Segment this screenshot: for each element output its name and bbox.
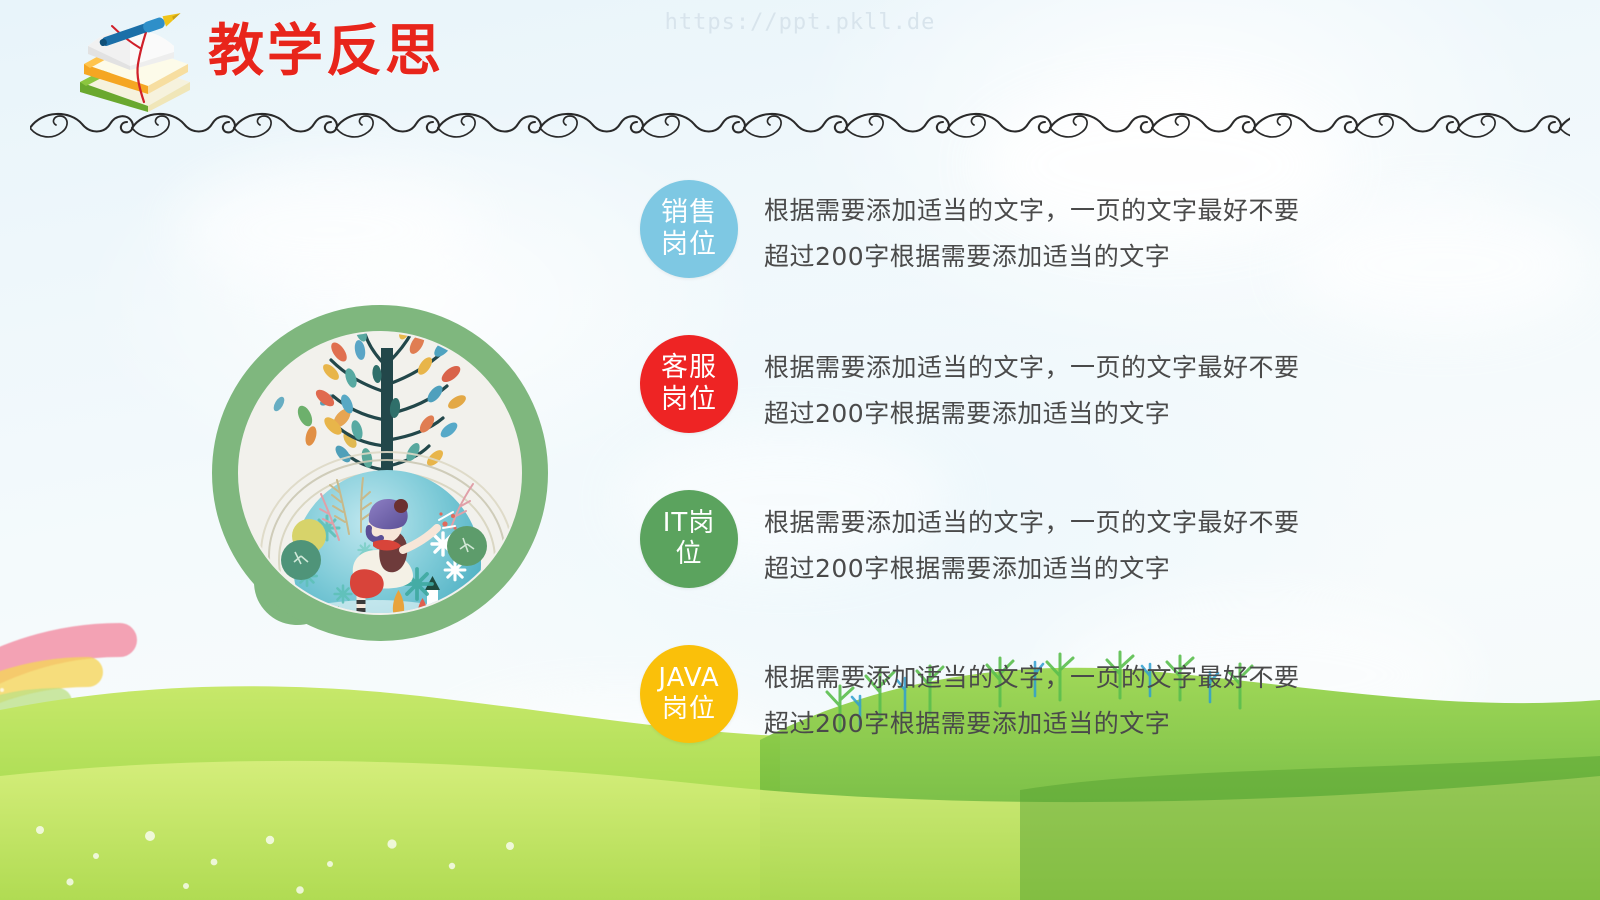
badge-label-line2: 岗位: [662, 694, 716, 725]
badge-label-line1: 客服: [661, 352, 717, 384]
list-item-text: 根据需要添加适当的文字，一页的文字最好不要超过200字根据需要添加适当的文字: [764, 500, 1324, 593]
list-item-text: 根据需要添加适当的文字，一页的文字最好不要超过200字根据需要添加适当的文字: [764, 345, 1324, 438]
position-list: 销售 岗位 根据需要添加适当的文字，一页的文字最好不要超过200字根据需要添加适…: [640, 180, 1340, 800]
badge-label-line1: IT岗: [663, 508, 716, 539]
badge-label-line2: 岗位: [661, 229, 717, 261]
list-item-text: 根据需要添加适当的文字，一页的文字最好不要超过200字根据需要添加适当的文字: [764, 655, 1324, 748]
list-item[interactable]: JAVA 岗位 根据需要添加适当的文字，一页的文字最好不要超过200字根据需要添…: [640, 645, 1340, 800]
badge-label-line1: JAVA: [658, 663, 719, 694]
cloud-wisp: [180, 170, 480, 290]
list-item[interactable]: 客服 岗位 根据需要添加适当的文字，一页的文字最好不要超过200字根据需要添加适…: [640, 335, 1340, 490]
list-item-text: 根据需要添加适当的文字，一页的文字最好不要超过200字根据需要添加适当的文字: [764, 188, 1324, 281]
list-item[interactable]: IT岗 位 根据需要添加适当的文字，一页的文字最好不要超过200字根据需要添加适…: [640, 490, 1340, 645]
badge-label-line2: 岗位: [661, 384, 717, 416]
stacked-books-with-pen-icon: [62, 8, 202, 113]
ornate-flourish-divider: [30, 108, 1570, 142]
badge-label-line1: 销售: [661, 197, 717, 229]
list-item[interactable]: 销售 岗位 根据需要添加适当的文字，一页的文字最好不要超过200字根据需要添加适…: [640, 180, 1340, 335]
badge-sales[interactable]: 销售 岗位: [640, 180, 738, 278]
badge-label-line2: 位: [675, 539, 702, 570]
badge-java[interactable]: JAVA 岗位: [640, 645, 738, 743]
badge-it[interactable]: IT岗 位: [640, 490, 738, 588]
slide-header: https://ppt.pkll.de: [0, 0, 1600, 150]
page-title: 教学反思: [208, 24, 444, 80]
magnifying-glass-illustration: [155, 288, 575, 708]
badge-customer-service[interactable]: 客服 岗位: [640, 335, 738, 433]
slide-canvas: https://ppt.pkll.de: [0, 0, 1600, 900]
